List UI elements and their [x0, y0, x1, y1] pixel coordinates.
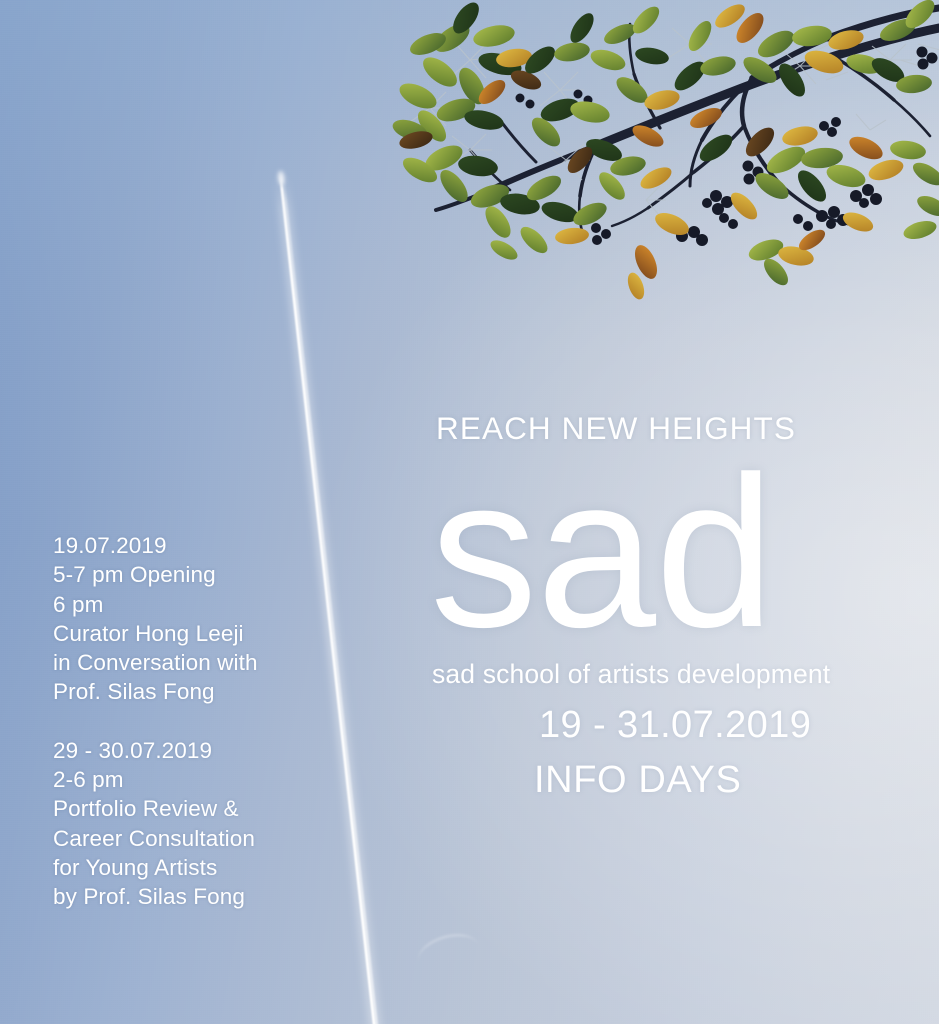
poster-canvas: 19.07.2019 5-7 pm Opening 6 pm Curator H… — [0, 0, 939, 1024]
event-one: 19.07.2019 5-7 pm Opening 6 pm Curator H… — [53, 531, 353, 707]
event-two-line-3: Portfolio Review & — [53, 794, 353, 823]
event-two: 29 - 30.07.2019 2-6 pm Portfolio Review … — [53, 736, 353, 912]
event-one-line-5: in Conversation with — [53, 648, 353, 677]
event-two-line-4: Career Consultation — [53, 824, 353, 853]
event-two-line-5: for Young Artists — [53, 853, 353, 882]
schedule-text-block: 19.07.2019 5-7 pm Opening 6 pm Curator H… — [53, 531, 353, 912]
event-two-line-6: by Prof. Silas Fong — [53, 882, 353, 911]
headline-block: REACH NEW HEIGHTS sad sad school of arti… — [433, 408, 903, 803]
event-one-line-6: Prof. Silas Fong — [53, 677, 353, 706]
event-one-line-2: 5-7 pm Opening — [53, 560, 353, 589]
event-type-label: INFO DAYS — [534, 757, 903, 803]
event-two-line-1: 29 - 30.07.2019 — [53, 736, 353, 765]
event-one-line-3: 6 pm — [53, 590, 353, 619]
schedule-spacer — [53, 707, 353, 736]
event-two-line-2: 2-6 pm — [53, 765, 353, 794]
event-one-line-4: Curator Hong Leeji — [53, 619, 353, 648]
event-date-range: 19 - 31.07.2019 — [539, 701, 903, 749]
sad-wordmark: sad — [430, 468, 903, 636]
event-one-line-1: 19.07.2019 — [53, 531, 353, 560]
organisation-name: sad school of artists development — [432, 658, 903, 690]
